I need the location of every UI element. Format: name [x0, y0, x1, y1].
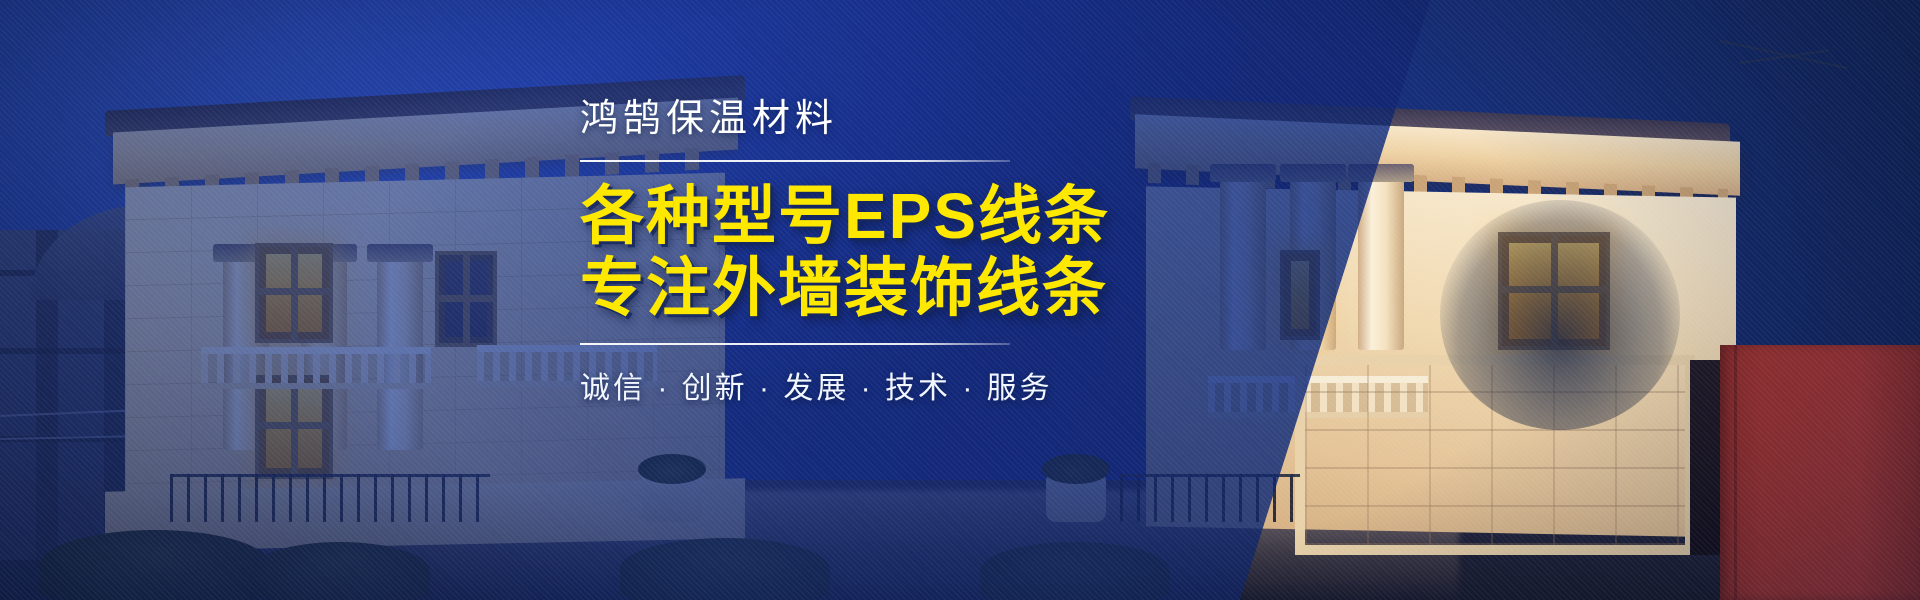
banner-text-block: 鸿鹄保温材料 各种型号EPS线条 专注外墙装饰线条 诚信 · 创新 · 发展 ·…	[580, 96, 1300, 407]
divider-top	[580, 160, 1010, 162]
company-name: 鸿鹄保温材料	[580, 96, 1300, 144]
promotional-banner: 鸿鹄保温材料 各种型号EPS线条 专注外墙装饰线条 诚信 · 创新 · 发展 ·…	[0, 0, 1920, 600]
headline-group: 各种型号EPS线条 专注外墙装饰线条	[580, 180, 1300, 326]
headline-line-2: 专注外墙装饰线条	[580, 252, 1300, 325]
slogan: 诚信 · 创新 · 发展 · 技术 · 服务	[580, 363, 1300, 407]
headline-line-1: 各种型号EPS线条	[580, 180, 1300, 253]
divider-bottom	[580, 343, 1010, 345]
